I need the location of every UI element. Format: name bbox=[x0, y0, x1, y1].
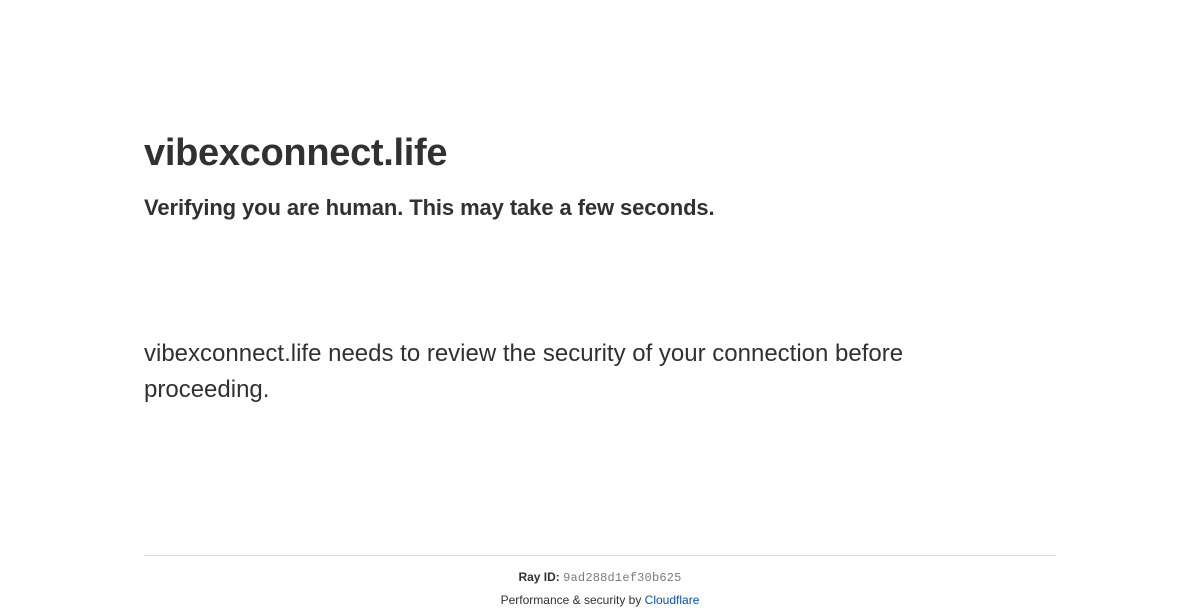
turnstile-widget-slot[interactable] bbox=[144, 252, 444, 322]
challenge-main: vibexconnect.life Verifying you are huma… bbox=[144, 130, 1056, 408]
challenge-description: vibexconnect.life needs to review the se… bbox=[144, 322, 944, 408]
ray-id-value: 9ad288d1ef30b625 bbox=[563, 571, 681, 585]
page-title: vibexconnect.life bbox=[144, 130, 1056, 176]
page-footer: Ray ID: 9ad288d1ef30b625 Performance & s… bbox=[144, 555, 1056, 608]
attribution-prefix: Performance & security by bbox=[501, 593, 645, 607]
cloudflare-link[interactable]: Cloudflare bbox=[645, 593, 700, 607]
ray-id-row: Ray ID: 9ad288d1ef30b625 bbox=[144, 556, 1056, 586]
ray-id-label: Ray ID: bbox=[518, 570, 559, 584]
challenge-page: vibexconnect.life Verifying you are huma… bbox=[0, 0, 1200, 600]
attribution-row: Performance & security by Cloudflare bbox=[144, 586, 1056, 608]
verification-status-text: Verifying you are human. This may take a… bbox=[144, 194, 1056, 222]
content-column: vibexconnect.life Verifying you are huma… bbox=[144, 0, 1056, 600]
